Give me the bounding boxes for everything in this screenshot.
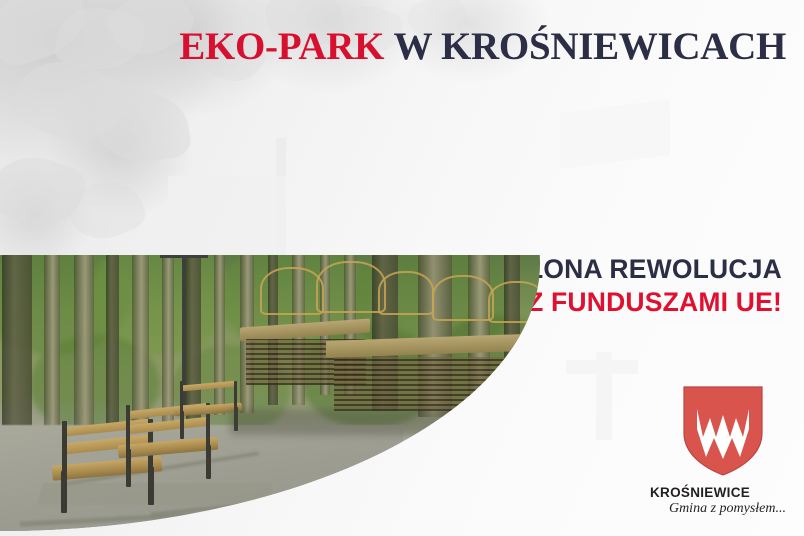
branch-railing (378, 271, 434, 315)
bench-leg (180, 411, 184, 439)
park-photo-image (0, 255, 560, 536)
tree-trunk (504, 255, 520, 401)
poster-headline: EKO-PARK W KROŚNIEWICACH (0, 27, 786, 66)
branch-railing (316, 261, 386, 313)
tree-trunk (44, 255, 60, 439)
bench-post (462, 463, 479, 527)
logo-tagline: Gmina z pomysłem... (648, 501, 798, 517)
branch-railing (260, 267, 324, 315)
wicker-weave (478, 467, 550, 519)
background-faint-shape (168, 176, 286, 258)
bench-leg (206, 445, 211, 479)
park-photo-clip (0, 255, 560, 536)
logo-municipality-name: KROŚNIEWICE (648, 485, 798, 500)
headline-rest: W KROŚNIEWICACH (394, 25, 786, 68)
tree-trunk (162, 255, 174, 425)
bench-backrest (182, 381, 236, 392)
shield-with-white-w-icon (682, 385, 764, 477)
municipality-logo: KROŚNIEWICE Gmina z pomysłem... (648, 385, 798, 517)
wicker-bench-top (326, 333, 552, 358)
bench-leg (126, 449, 131, 487)
bench-top-slab (452, 439, 560, 470)
park-photo-panel (0, 255, 560, 536)
bench-leg (61, 471, 67, 513)
wooden-bench-foreground (452, 445, 560, 536)
tree-trunk (2, 255, 32, 451)
poster-canvas: EKO-PARK W KROŚNIEWICACH ZIELONA REWOLUC… (0, 0, 804, 536)
ground-shadow (230, 409, 560, 435)
headline-highlight: EKO-PARK (179, 25, 384, 68)
background-faint-shape (566, 360, 638, 374)
tree-trunk (106, 255, 119, 431)
wicker-weave (334, 357, 546, 411)
tree-trunk (74, 255, 94, 443)
branch-railing (488, 281, 546, 323)
lamp-post-arm (160, 255, 208, 258)
branch-railing (432, 275, 494, 321)
bench-post (544, 461, 560, 523)
